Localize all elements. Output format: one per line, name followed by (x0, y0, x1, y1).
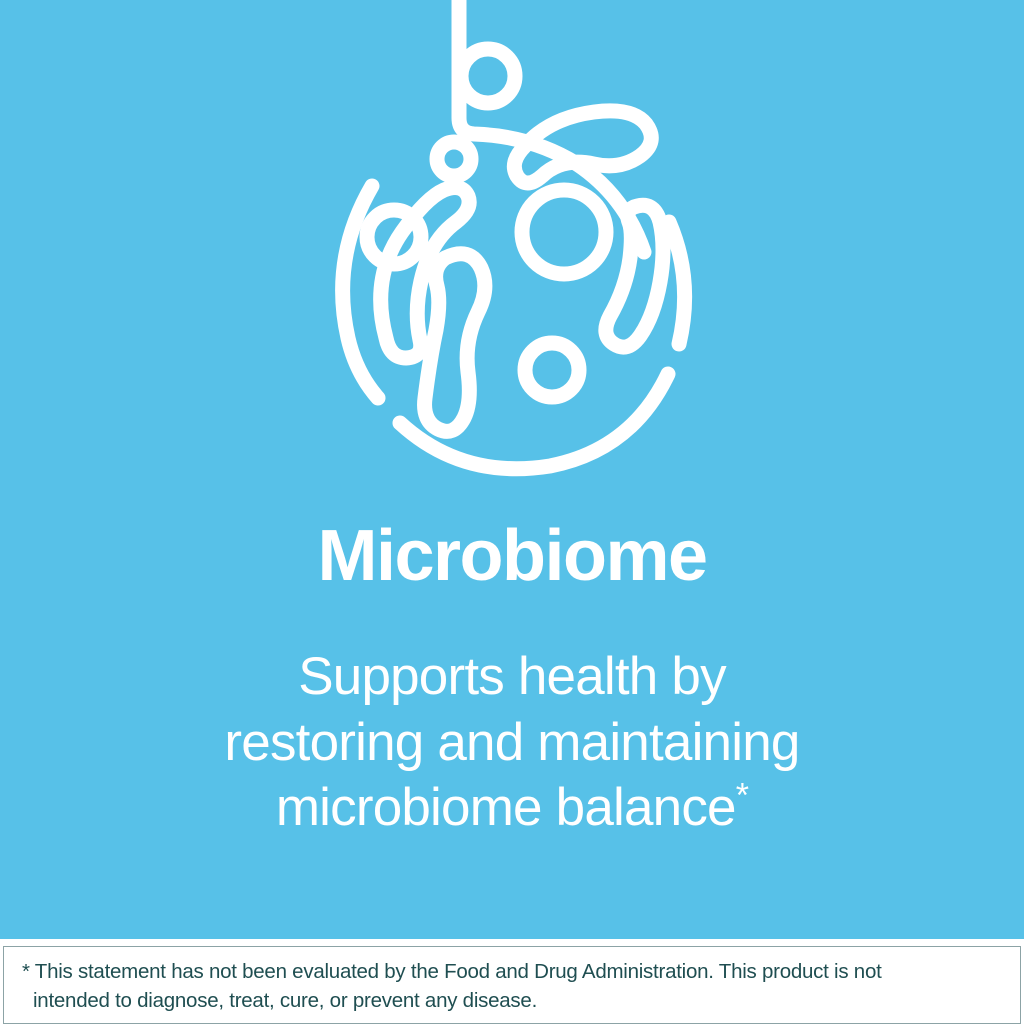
bacterium-rod-upper-left (381, 188, 469, 358)
microbiome-petri-dish-icon (302, 0, 722, 500)
disclaimer-line-1: * This statement has not been evaluated … (22, 957, 1002, 986)
rim-arc-top-right (577, 164, 644, 252)
bacterium-rod-lower-center (425, 254, 485, 432)
rim-arc-right (669, 222, 685, 344)
bacterium-ring-lower-center (525, 343, 579, 397)
rim-arc-left (343, 186, 378, 398)
subtitle-line-3: microbiome balance* (0, 775, 1024, 841)
disclaimer-box: * This statement has not been evaluated … (3, 946, 1021, 1024)
rim-arc-bottom (400, 374, 668, 469)
disclaimer-gap (0, 939, 1024, 946)
text-block: Microbiome Supports health by restoring … (0, 520, 1024, 841)
microbiome-benefit-card: Microbiome Supports health by restoring … (0, 0, 1024, 1024)
footnote-asterisk: * (736, 777, 748, 815)
subtitle-line-1: Supports health by (0, 644, 1024, 710)
page-title: Microbiome (0, 520, 1024, 592)
disclaimer-line-2: intended to diagnose, treat, cure, or pr… (22, 986, 1002, 1015)
stem-line (459, 0, 577, 164)
bacterium-rod-upper-right (514, 111, 651, 183)
bacterium-ring-center-left (437, 142, 471, 176)
subtitle: Supports health by restoring and maintai… (0, 644, 1024, 841)
bacterium-ring-top-center (461, 49, 515, 103)
hero-panel: Microbiome Supports health by restoring … (0, 0, 1024, 939)
bacterium-rod-right (606, 205, 663, 347)
bacterium-ring-mid-left (367, 210, 421, 264)
disclaimer-text: * This statement has not been evaluated … (22, 957, 1002, 1015)
bacterium-ring-center-large (522, 190, 606, 274)
subtitle-line-3-text: microbiome balance (276, 778, 736, 837)
subtitle-line-2: restoring and maintaining (0, 710, 1024, 776)
